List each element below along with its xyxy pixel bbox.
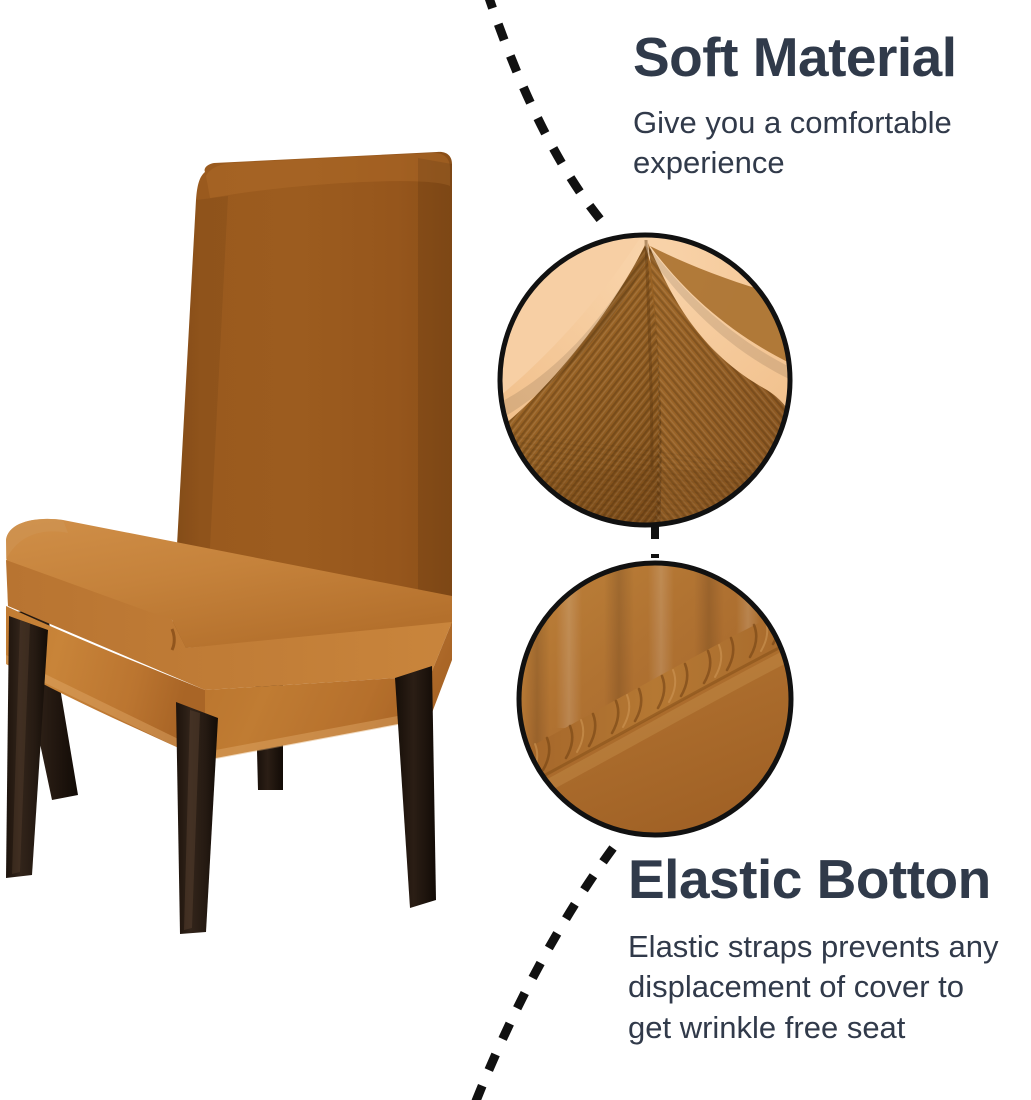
feature-description-line: experience [633, 143, 993, 183]
feature-description-line: Give you a comfortable [633, 103, 993, 143]
feature-block-elastic-bottom: Elastic Botton Elastic straps prevents a… [628, 852, 1031, 1048]
feature-description-line: displacement of cover to [628, 967, 1028, 1007]
feature-block-soft-material: Soft Material Give you a comfortable exp… [633, 30, 1031, 184]
feature-description-line: get wrinkle free seat [628, 1008, 1028, 1048]
leader-line-top [487, 0, 611, 232]
chair-leg-rear-right [395, 666, 436, 908]
feature-description-line: Elastic straps prevents any [628, 927, 1028, 967]
leader-line-bottom [474, 848, 613, 1100]
callout-elastic-hem [505, 558, 808, 848]
feature-title-soft-material: Soft Material [633, 30, 1031, 85]
feature-description-soft-material: Give you a comfortable experience [633, 103, 993, 184]
feature-title-elastic-bottom: Elastic Botton [628, 852, 1031, 907]
chair-illustration [6, 152, 452, 934]
chair-back-right-shadow [418, 158, 452, 630]
callout-fabric-texture [495, 230, 805, 540]
infographic-canvas: Soft Material Give you a comfortable exp… [0, 0, 1031, 1100]
feature-description-elastic-bottom: Elastic straps prevents any displacement… [628, 927, 1028, 1048]
